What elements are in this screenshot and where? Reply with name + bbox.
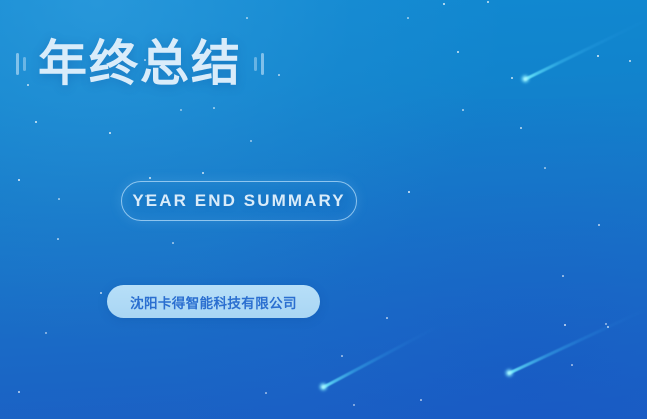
meteor-tail (523, 17, 647, 81)
page-title: 年终总结 (38, 40, 242, 89)
meteor-tail (321, 324, 439, 389)
star-dot (597, 55, 599, 57)
star-dot (18, 391, 20, 393)
star-dot (18, 179, 20, 181)
star-dot (407, 17, 409, 19)
meteor-tail (507, 308, 646, 375)
meteor-head (503, 367, 515, 379)
star-dot (487, 1, 489, 3)
bottom-right-glow (187, 99, 647, 419)
title-right-tick-icon (254, 47, 264, 81)
star-dot (172, 242, 174, 244)
star-dot (246, 17, 248, 19)
star-dot (341, 355, 343, 357)
star-dot (562, 275, 564, 277)
cover-slide: 年终总结 YEAR END SUMMARY 沈阳卡得智能科技有限公司 (0, 0, 647, 419)
star-dot (520, 127, 522, 129)
company-name-label: 沈阳卡得智能科技有限公司 (130, 292, 297, 312)
star-dot (443, 3, 445, 5)
star-dot (544, 167, 546, 169)
star-dot (598, 224, 600, 226)
star-dot (213, 107, 215, 109)
meteor-head (317, 381, 329, 393)
title-block: 年终总结 (16, 32, 264, 96)
subtitle-label: YEAR END SUMMARY (132, 191, 345, 211)
star-dot (58, 198, 60, 200)
star-dot (511, 77, 513, 79)
company-name-pill: 沈阳卡得智能科技有限公司 (107, 285, 320, 318)
star-dot (180, 109, 181, 110)
meteor-streak (523, 17, 647, 81)
star-dot (457, 51, 459, 53)
title-left-tick-icon (16, 47, 26, 81)
star-dot (420, 399, 422, 401)
star-dot (571, 364, 573, 366)
star-dot (35, 121, 37, 123)
star-dot (202, 172, 204, 174)
meteor-streak (321, 324, 439, 389)
star-dot (607, 326, 609, 328)
star-dot (250, 140, 251, 141)
star-dot (57, 238, 59, 240)
star-dot (386, 317, 388, 319)
star-dot (564, 324, 566, 326)
subtitle-pill: YEAR END SUMMARY (121, 181, 357, 221)
star-dot (462, 109, 464, 111)
star-dot (629, 60, 631, 62)
star-dot (605, 323, 606, 324)
meteor-streak (507, 308, 646, 375)
star-dot (45, 332, 46, 333)
star-dot (265, 392, 267, 394)
star-dot (408, 191, 410, 193)
star-dot (278, 74, 280, 76)
meteor-head (519, 73, 531, 85)
star-dot (149, 177, 151, 179)
star-dot (353, 404, 354, 405)
star-dot (100, 292, 102, 294)
star-dot (109, 132, 111, 134)
